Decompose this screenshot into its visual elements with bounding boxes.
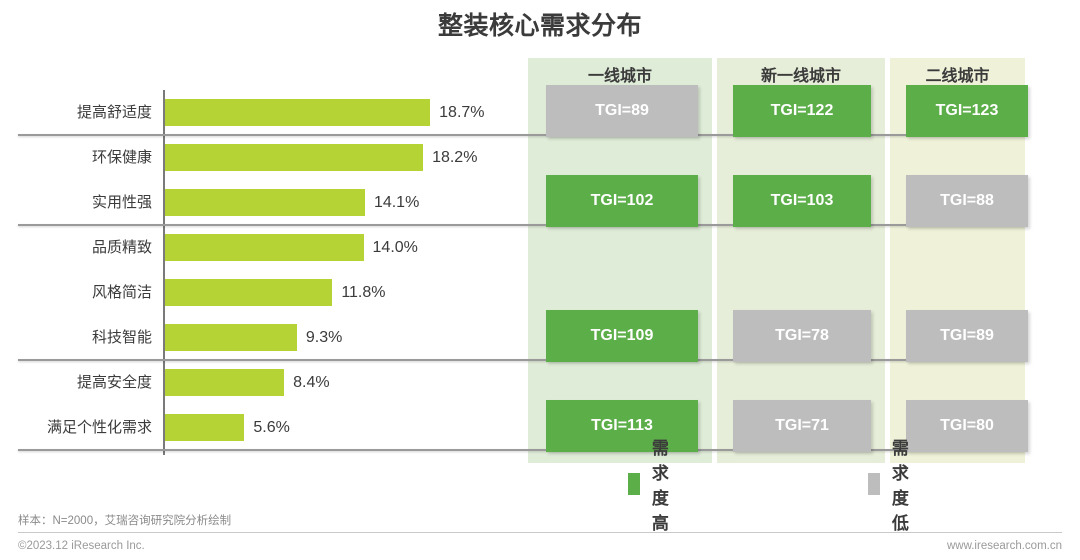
legend-swatch-high-icon — [628, 473, 640, 495]
category-label: 品质精致 — [0, 225, 152, 270]
copyright-text: ©2023.12 iResearch Inc. — [18, 540, 145, 552]
tgi-chip: TGI=80 — [906, 400, 1028, 452]
bar-value-label: 9.3% — [306, 315, 342, 360]
bar — [165, 369, 284, 396]
bar — [165, 189, 365, 216]
bar-value-label: 18.2% — [432, 135, 477, 180]
tgi-chip: TGI=109 — [546, 310, 698, 362]
bar-value-label: 11.8% — [341, 270, 385, 315]
tgi-chip: TGI=123 — [906, 85, 1028, 137]
row-separator — [18, 134, 1025, 136]
category-label: 风格简洁 — [0, 270, 152, 315]
bar-value-label: 14.0% — [373, 225, 418, 270]
legend-item-high: 需求度高 — [628, 472, 683, 496]
legend-label-low: 需求度低 — [892, 434, 923, 534]
category-label: 环保健康 — [0, 135, 152, 180]
footer-divider — [18, 532, 1062, 533]
tgi-chip: TGI=78 — [733, 310, 871, 362]
tgi-chip: TGI=102 — [546, 175, 698, 227]
category-label: 实用性强 — [0, 180, 152, 225]
bar-value-label: 8.4% — [293, 360, 329, 405]
bar — [165, 279, 332, 306]
chart-plot-area: 提高舒适度18.7%环保健康18.2%实用性强14.1%品质精致14.0%风格简… — [0, 90, 1080, 460]
legend-label-high: 需求度高 — [652, 434, 683, 534]
tgi-chip: TGI=71 — [733, 400, 871, 452]
bar-row: 风格简洁11.8% — [0, 270, 1080, 315]
page-title: 整装核心需求分布 — [0, 6, 1080, 42]
tgi-chip: TGI=89 — [906, 310, 1028, 362]
bar — [165, 324, 297, 351]
row-separator — [18, 359, 1025, 361]
row-separator — [18, 449, 1025, 451]
bar — [165, 144, 423, 171]
source-note: 样本：N=2000，艾瑞咨询研究院分析绘制 — [18, 512, 231, 528]
bar — [165, 414, 244, 441]
legend-swatch-low-icon — [868, 473, 880, 495]
category-label: 满足个性化需求 — [0, 405, 152, 450]
tgi-chip: TGI=122 — [733, 85, 871, 137]
website-url: www.iresearch.com.cn — [947, 540, 1062, 552]
bar — [165, 234, 364, 261]
bar-row: 提高安全度8.4% — [0, 360, 1080, 405]
bar — [165, 99, 430, 126]
tgi-chip: TGI=89 — [546, 85, 698, 137]
row-separator — [18, 224, 1025, 226]
bar-value-label: 18.7% — [439, 90, 484, 135]
legend-item-low: 需求度低 — [868, 472, 923, 496]
category-label: 提高舒适度 — [0, 90, 152, 135]
bar-row: 环保健康18.2% — [0, 135, 1080, 180]
category-label: 提高安全度 — [0, 360, 152, 405]
bar-value-label: 5.6% — [253, 405, 289, 450]
bar-value-label: 14.1% — [374, 180, 419, 225]
bar-row: 品质精致14.0% — [0, 225, 1080, 270]
category-label: 科技智能 — [0, 315, 152, 360]
tgi-chip: TGI=103 — [733, 175, 871, 227]
tgi-chip: TGI=88 — [906, 175, 1028, 227]
